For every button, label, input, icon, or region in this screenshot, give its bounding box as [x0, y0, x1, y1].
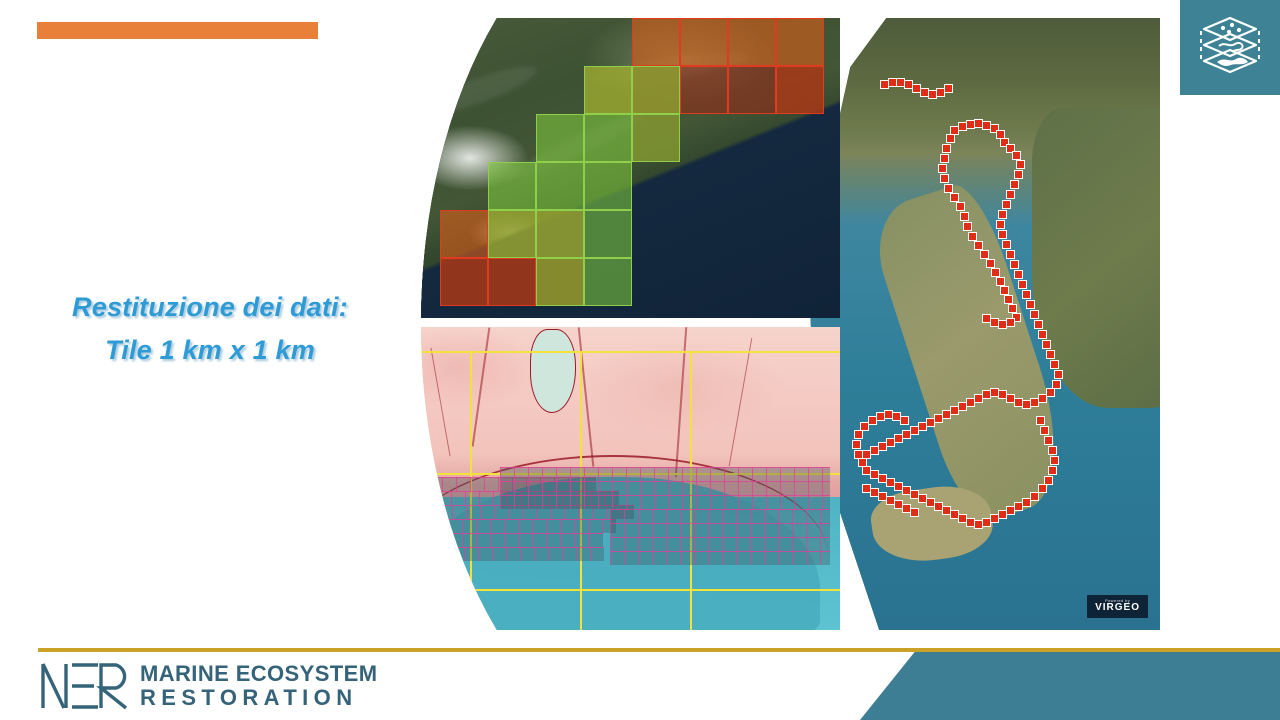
map-tile	[632, 114, 680, 162]
coastal-km-tile	[876, 412, 885, 421]
coastal-km-tile	[1022, 400, 1031, 409]
page-title: Restituzione dei dati: Tile 1 km x 1 km	[30, 286, 390, 372]
km-tile-band	[450, 547, 604, 561]
coastal-km-tile	[1014, 270, 1023, 279]
grid-line-horizontal	[380, 351, 840, 353]
map-tile	[584, 210, 632, 258]
brand-line-1: MARINE ECOSYSTEM	[140, 662, 377, 686]
map-tile	[776, 66, 824, 114]
map-tile	[584, 258, 632, 306]
coastal-km-tile	[1048, 466, 1057, 475]
coastal-km-tile	[1036, 416, 1045, 425]
km-tile-band	[420, 519, 616, 533]
coastal-km-tile	[963, 222, 972, 231]
italy-coastal-tiles-map: Powered by VIRGEO	[800, 18, 1160, 630]
mer-wordmark: MARINE ECOSYSTEM RESTORATION	[140, 662, 377, 710]
accent-bar	[37, 22, 318, 39]
mer-logo: MARINE ECOSYSTEM RESTORATION	[38, 660, 377, 712]
map-tile	[584, 114, 632, 162]
coastal-km-tile	[1008, 304, 1017, 313]
map-tile	[632, 18, 680, 66]
coastal-km-tile	[1006, 250, 1015, 259]
map-tile	[536, 258, 584, 306]
coastal-km-tile	[980, 250, 989, 259]
coastal-km-tile	[946, 134, 955, 143]
map-tile	[632, 66, 680, 114]
coastal-km-tile	[1026, 300, 1035, 309]
coastal-km-tile	[1006, 318, 1015, 327]
virgeo-label: VIRGEO	[1095, 603, 1140, 613]
coastal-km-tile	[886, 438, 895, 447]
coastal-km-tile	[982, 390, 991, 399]
coastal-km-tile	[902, 430, 911, 439]
coastal-km-tile	[968, 232, 977, 241]
map-tile	[536, 162, 584, 210]
coastal-km-tile	[998, 320, 1007, 329]
title-line-2: Tile 1 km x 1 km	[30, 329, 390, 372]
map-tile	[488, 162, 536, 210]
map-tile	[536, 114, 584, 162]
coastal-km-tile	[1006, 394, 1015, 403]
map-layers-icon	[1197, 13, 1263, 83]
map-tile	[440, 210, 488, 258]
coastal-km-tile	[926, 418, 935, 427]
map-tile	[776, 18, 824, 66]
coastal-km-tile	[998, 230, 1007, 239]
coastal-km-tile	[870, 446, 879, 455]
coastal-km-tile	[1046, 388, 1055, 397]
coastal-km-tile	[990, 318, 999, 327]
coastal-km-tile	[938, 164, 947, 173]
coastal-km-tile	[942, 410, 951, 419]
coastal-km-tile	[868, 416, 877, 425]
coastal-km-tile	[1022, 290, 1031, 299]
coastal-km-tile	[944, 84, 953, 93]
km-tile-band	[610, 509, 830, 565]
coastal-km-tile	[918, 422, 927, 431]
coastal-km-tile	[852, 440, 861, 449]
coastal-km-tile	[1004, 295, 1013, 304]
map-tile	[680, 18, 728, 66]
grid-line-horizontal	[380, 589, 840, 591]
coastal-km-tile	[1030, 398, 1039, 407]
italy-satellite-basemap	[800, 18, 1160, 630]
coastal-km-tile	[1042, 340, 1051, 349]
coastal-km-tile	[1046, 350, 1055, 359]
coastal-km-tile	[1006, 190, 1015, 199]
coastal-km-tile	[950, 406, 959, 415]
map-tile	[584, 66, 632, 114]
coastal-km-tile	[986, 259, 995, 268]
coastal-km-tile	[966, 398, 975, 407]
coastal-km-tile	[960, 212, 969, 221]
coastal-km-tile	[1030, 492, 1039, 501]
coastal-km-tile	[854, 450, 863, 459]
coastal-km-tile	[910, 508, 919, 517]
coastal-km-tile	[974, 241, 983, 250]
title-line-1: Restituzione dei dati:	[30, 286, 390, 329]
map-tile	[536, 210, 584, 258]
coastal-km-tile	[1014, 398, 1023, 407]
coastal-km-tile	[990, 388, 999, 397]
coastal-km-tile	[1050, 360, 1059, 369]
mer-monogram-icon	[38, 660, 130, 712]
coastal-km-tile	[942, 144, 951, 153]
coastal-km-tile	[991, 268, 1000, 277]
coastal-km-tile	[950, 193, 959, 202]
coastal-km-tile	[1054, 370, 1063, 379]
virgeo-powered-label: Powered by	[1095, 599, 1140, 603]
coastal-km-tile	[854, 430, 863, 439]
coastal-km-tile	[940, 174, 949, 183]
footer-divider	[38, 648, 1280, 652]
coastal-km-tile	[940, 154, 949, 163]
coastal-km-tile	[974, 394, 983, 403]
map-tile	[440, 258, 488, 306]
map-tile	[488, 258, 536, 306]
coastal-km-tile	[998, 390, 1007, 399]
coastal-km-tile	[996, 277, 1005, 286]
coastal-km-tile	[996, 220, 1005, 229]
coastal-km-tile	[1048, 446, 1057, 455]
coastal-km-tile	[1010, 180, 1019, 189]
coastal-km-tile	[1034, 320, 1043, 329]
coastal-km-tile	[892, 412, 901, 421]
coastal-km-tile	[900, 416, 909, 425]
coastal-km-tile	[1000, 286, 1009, 295]
km-tile-band	[500, 467, 830, 509]
coastal-km-tile	[944, 184, 953, 193]
coastal-km-tile	[1038, 484, 1047, 493]
topographic-grid-figure	[380, 327, 840, 630]
coastal-km-tile	[1018, 280, 1027, 289]
coastal-km-tile	[1044, 476, 1053, 485]
map-tile	[680, 66, 728, 114]
coastal-km-tile	[1030, 310, 1039, 319]
coastal-km-tile	[1012, 151, 1021, 160]
coastal-km-tile	[1050, 456, 1059, 465]
coastal-km-tile	[934, 414, 943, 423]
coastal-km-tile	[1014, 170, 1023, 179]
coastal-km-tile	[1038, 330, 1047, 339]
map-tile	[488, 210, 536, 258]
satellite-tiles-figure	[380, 18, 840, 318]
coastal-km-tile	[998, 210, 1007, 219]
coastal-km-tile	[1002, 200, 1011, 209]
figure-cluster: Powered by VIRGEO	[380, 18, 1160, 630]
map-tile	[728, 66, 776, 114]
coastal-km-tile	[1016, 160, 1025, 169]
coastal-km-tile	[1002, 240, 1011, 249]
map-layers-badge	[1180, 0, 1280, 95]
lake-shape	[530, 329, 576, 413]
coastal-km-tile	[1038, 394, 1047, 403]
km-tile-band	[435, 533, 603, 547]
coastal-km-tile	[1044, 436, 1053, 445]
coastal-km-tile	[1040, 426, 1049, 435]
curved-figure-stack	[380, 18, 840, 630]
map-tile	[584, 162, 632, 210]
presentation-slide: Restituzione dei dati: Tile 1 km x 1 km …	[0, 0, 1280, 720]
coastal-km-tile	[884, 410, 893, 419]
coastal-km-tile	[958, 402, 967, 411]
brand-line-2: RESTORATION	[140, 686, 377, 710]
coastal-km-tile	[956, 202, 965, 211]
coastal-km-tile	[878, 442, 887, 451]
coastal-km-tile	[982, 314, 991, 323]
footer-wedge	[860, 652, 1280, 720]
virgeo-watermark: Powered by VIRGEO	[1087, 595, 1148, 618]
coastal-km-tile	[1010, 260, 1019, 269]
coastal-km-tile	[894, 434, 903, 443]
slide-footer: MARINE ECOSYSTEM RESTORATION ISPRA Istit…	[0, 646, 1280, 720]
map-tile	[728, 18, 776, 66]
coastal-km-tile	[910, 426, 919, 435]
